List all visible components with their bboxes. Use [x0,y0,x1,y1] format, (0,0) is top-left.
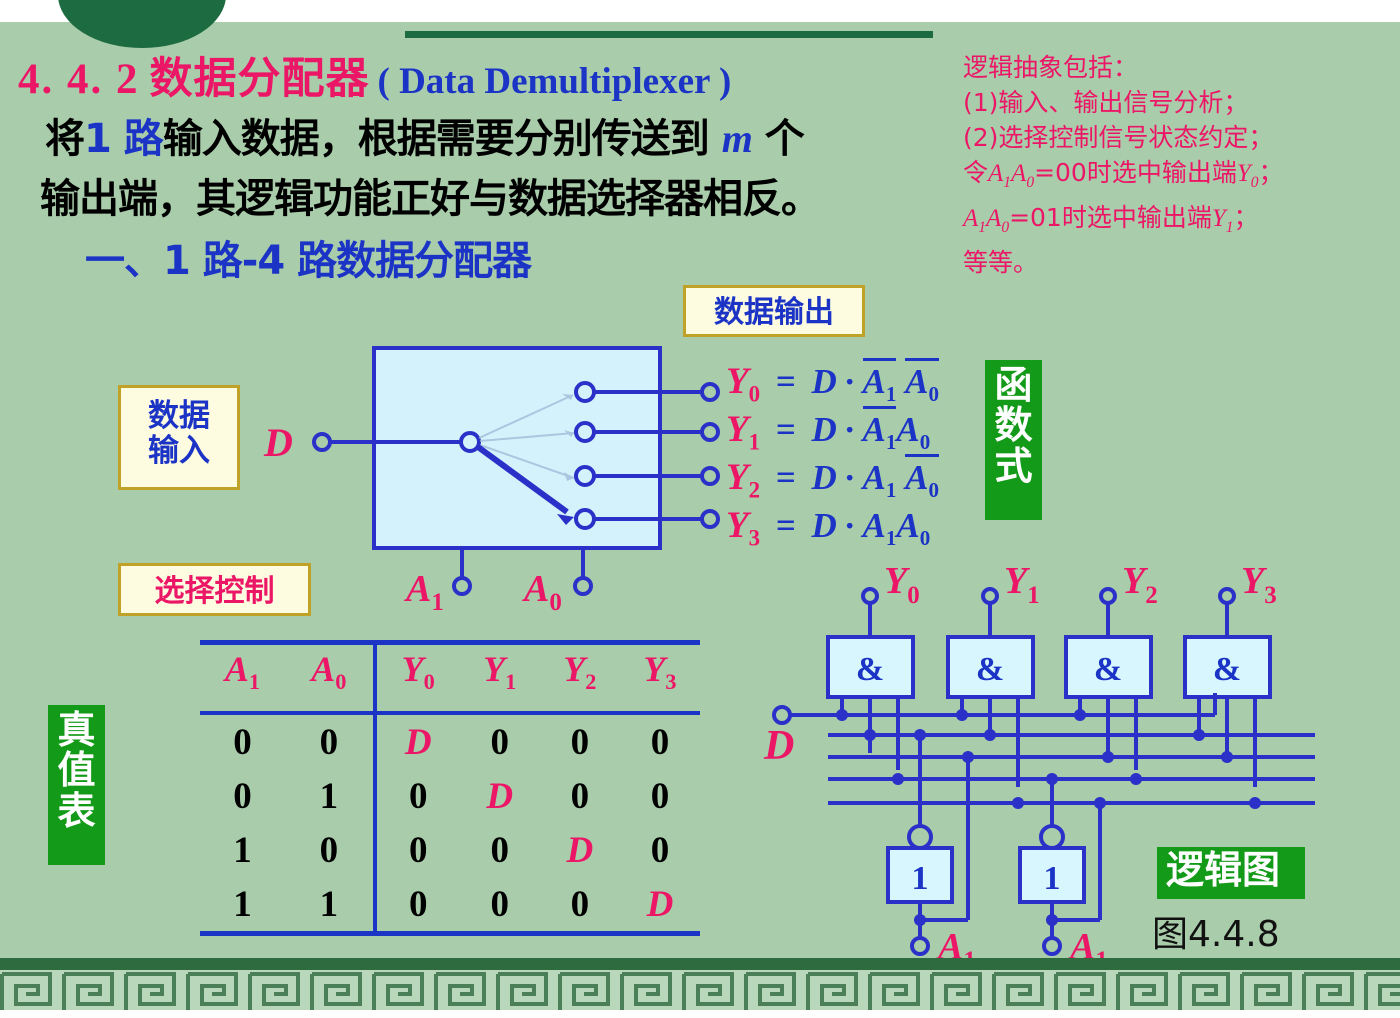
inv1-bubble [909,826,931,848]
label-data-input: 数据 输入 [118,385,240,490]
eq0-equals: = [776,362,796,401]
note4-y1: Y1 [1212,205,1234,232]
section-title-english: ( Data Demultiplexer ) [378,61,732,102]
eq3-term1: A1 [863,506,897,545]
logic-label-y1: Y1 [1004,565,1040,609]
cell-a0: 0 [285,713,375,769]
note3-y0: Y0 [1237,160,1259,187]
and-symbol-y0: & [856,651,884,688]
tag-truth-ch1: 值 [48,750,105,790]
equation-y3: Y3 = D·A1A0 [726,502,939,550]
eq2-d: D [812,458,837,497]
demux-label-d: D [263,420,293,465]
tag-func-ch2: 式 [985,446,1042,486]
demux-rotor-pivot [461,433,479,451]
cell-y0: 0 [375,877,460,934]
cell-y2: D [540,823,620,877]
note4-a1: A1 [963,205,986,232]
cell-a0: 1 [285,769,375,823]
note-item-2: (2)选择控制信号状态约定； [963,120,1383,155]
table-row [200,699,700,713]
eq1-term1: A1 [863,406,897,449]
cell-y3: 0 [620,823,700,877]
th-a1: A1 [200,643,285,700]
cell-y1: 0 [460,713,540,769]
demux-input-terminal [314,434,330,450]
th-y0: Y0 [375,643,460,700]
eq2-dot: · [844,458,856,497]
body-l1-b: 1 路 [84,116,163,162]
demux-select-terminal-a0 [575,578,591,594]
note3-a0: A0 [1011,160,1034,187]
logic-gate-diagram: & & & & 1 1 Y0 Y1 Y2 Y3 D A1 A1 [760,565,1370,965]
section-number: 4. 4. 2 [18,56,140,103]
eq1-equals: = [776,410,796,449]
inv2-terminal-a1 [1044,938,1060,954]
cell-y2: 0 [540,877,620,934]
table-row: 1 0 0 0 D 0 [200,823,700,877]
note-item-1: (1)输入、输出信号分析； [963,85,1383,120]
border-top-stripe [0,958,1400,970]
body-l1-c: 输入数据，根据需要分别传送到 [163,116,709,162]
note-title: 逻辑抽象包括： [963,50,1383,85]
cell-y3: 0 [620,769,700,823]
truth-table: A1 A0 Y0 Y1 Y2 Y3 0 0 D 0 0 0 0 [200,640,700,936]
note-item-5: 等等。 [963,245,1383,280]
cell-y2: 0 [540,713,620,769]
note4-a0: A0 [986,205,1009,232]
bottom-decorative-border [0,956,1400,1018]
cell-y0: 0 [375,823,460,877]
demux-term-y2 [702,468,718,484]
cell-a0: 1 [285,877,375,934]
eq2-term2: A0 [905,454,939,497]
eq1-dot: · [844,410,856,449]
table-row: 0 0 D 0 0 0 [200,713,700,769]
demux-output-node-y3 [576,510,594,528]
note-item-4: A1A0=01时选中输出端Y1； [963,200,1383,245]
eq0-lhs: Y0 [726,361,760,402]
title-underline-bar [405,31,933,38]
inverter-symbol-1: 1 [912,860,929,897]
truth-table-header-row: A1 A0 Y0 Y1 Y2 Y3 [200,643,700,700]
cell-y1: D [460,769,540,823]
body-l1-m-symbol: m [722,116,752,161]
and-symbol-y3: & [1213,651,1241,688]
slide-canvas: 4. 4. 2数据分配器( Data Demultiplexer ) 将1 路输… [0,0,1400,1018]
cell-a1: 0 [200,713,285,769]
page-title: 4. 4. 2数据分配器( Data Demultiplexer ) [18,44,731,106]
th-y3: Y3 [620,643,700,700]
cell-y1: 0 [460,877,540,934]
function-equations: Y0 = D·A1 A0 Y1 = D·A1A0 Y2 = D·A1 A0 Y3… [726,358,939,550]
demux-block-diagram: D A1 A0 [240,330,740,620]
th-y2: Y2 [540,643,620,700]
note3-pre: 令 [963,158,988,187]
cell-a1: 1 [200,823,285,877]
label-data-input-line1: 数据 [121,399,237,434]
equation-y2: Y2 = D·A1 A0 [726,454,939,502]
demux-select-terminal-a1 [454,578,470,594]
note-item-3: 令A1A0=00时选中输出端Y0； [963,155,1383,200]
demux-output-node-y0 [576,383,594,401]
eq0-dot: · [844,362,856,401]
eq0-term2: A0 [905,358,939,401]
gate-input-legs [842,697,1255,787]
bottom-white-strip [0,1010,1400,1018]
eq3-d: D [812,506,837,545]
demux-term-y1 [702,424,718,440]
body-l1-d: 个 [765,116,804,162]
body-paragraph-line-2: 输出端，其逻辑功能正好与数据选择器相反。 [40,166,820,224]
note4-mid: =01时选中输出端 [1009,203,1212,232]
cell-y3: 0 [620,713,700,769]
logic-abstraction-note: 逻辑抽象包括： (1)输入、输出信号分析； (2)选择控制信号状态约定； 令A1… [963,50,1383,280]
label-data-input-line2: 输入 [121,434,237,469]
eq1-term2: A0 [896,410,930,449]
th-a0: A0 [285,643,375,700]
logic-label-y3: Y3 [1241,565,1277,609]
note4-end: ； [1233,203,1258,232]
tag-func-ch0: 函 [985,365,1042,405]
inv1-terminal-a1 [912,938,928,954]
cell-a1: 1 [200,877,285,934]
eq1-lhs: Y1 [726,409,760,450]
eq1-d: D [812,410,837,449]
logic-label-d: D [763,723,794,769]
cell-y3: D [620,877,700,934]
inverter-symbol-2: 1 [1044,860,1061,897]
tag-func-ch1: 数 [985,405,1042,445]
inv2-bubble [1041,826,1063,848]
body-paragraph-line-1: 将1 路输入数据，根据需要分别传送到 m 个 [45,106,804,164]
body-l1-a: 将 [45,116,84,162]
logic-input-terminal-d [774,707,790,723]
logic-label-y0: Y0 [884,565,920,609]
cell-y0: D [375,713,460,769]
cell-a1: 0 [200,769,285,823]
corner-ellipse-decoration [58,0,226,48]
eq3-dot: · [844,506,856,545]
tag-truth-table: 真 值 表 [48,705,105,865]
tag-function-formula: 函 数 式 [985,360,1042,520]
note3-end: ； [1259,158,1284,187]
equation-y0: Y0 = D·A1 A0 [726,358,939,406]
eq2-term1: A1 [863,458,897,497]
demux-label-a0: A0 [522,568,562,616]
section-title-chinese: 数据分配器 [150,54,370,104]
eq0-d: D [812,362,837,401]
eq2-lhs: Y2 [726,457,760,498]
eq3-lhs: Y3 [726,505,760,546]
eq3-term2: A0 [896,506,930,545]
and-symbol-y1: & [976,651,1004,688]
demux-output-node-y2 [576,467,594,485]
table-row: 1 1 0 0 0 D [200,877,700,934]
eq2-equals: = [776,458,796,497]
truth-table-grid: A1 A0 Y0 Y1 Y2 Y3 0 0 D 0 0 0 0 [200,640,700,936]
cell-y0: 0 [375,769,460,823]
demux-term-y0 [702,384,718,400]
note3-a1: A1 [988,160,1011,187]
demux-label-a1: A1 [404,568,444,616]
tag-truth-ch2: 表 [48,791,105,831]
eq3-equals: = [776,506,796,545]
th-y1: Y1 [460,643,540,700]
and-symbol-y2: & [1094,651,1122,688]
subsection-heading: 一、1 路-4 路数据分配器 [85,228,531,286]
cell-a0: 0 [285,823,375,877]
eq0-term1: A1 [863,358,897,401]
cell-y1: 0 [460,823,540,877]
table-row: 0 1 0 D 0 0 [200,769,700,823]
note3-mid: =00时选中输出端 [1034,158,1237,187]
demux-output-node-y1 [576,423,594,441]
equation-y1: Y1 = D·A1A0 [726,406,939,454]
demux-output-terminals [702,384,718,527]
logic-label-y2: Y2 [1122,565,1158,609]
demux-term-y3 [702,511,718,527]
cell-y2: 0 [540,769,620,823]
tag-truth-ch0: 真 [48,710,105,750]
